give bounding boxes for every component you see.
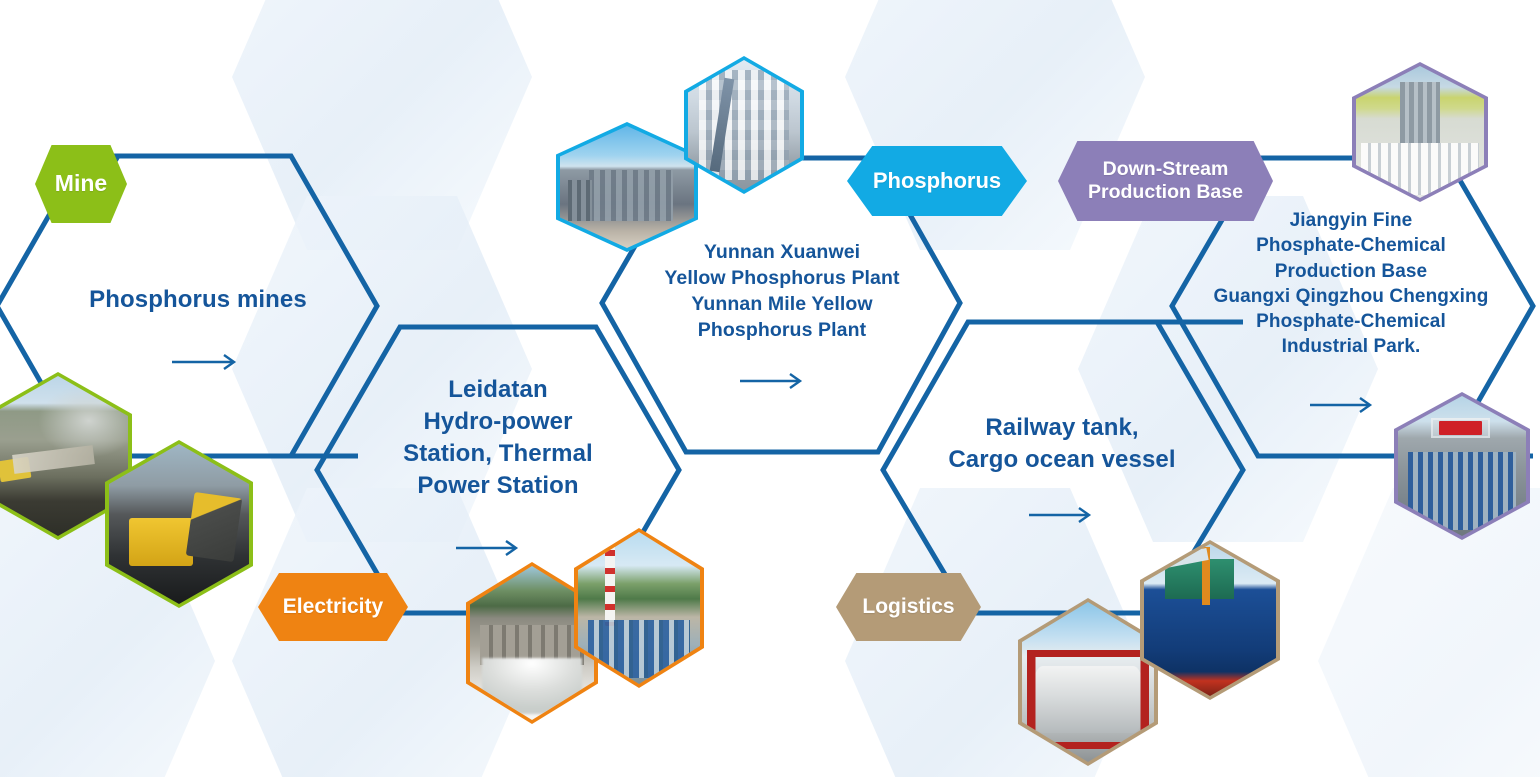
flow-arrow-downstream (1310, 398, 1370, 412)
value-chain-infographic: Phosphorus mines Leidatan Hydro-power St… (0, 0, 1540, 777)
stage-tag-electricity[interactable]: Electricity (258, 573, 408, 641)
stage-tag-electricity-label: Electricity (283, 595, 383, 620)
stage-tag-logistics[interactable]: Logistics (836, 573, 981, 641)
stage-tag-phosphorus[interactable]: Phosphorus (847, 146, 1027, 216)
stage-tag-mine-label: Mine (55, 170, 107, 197)
flow-arrow-mine (172, 355, 234, 369)
stage-tag-mine[interactable]: Mine (35, 145, 127, 223)
stage-tag-phosphorus-label: Phosphorus (873, 168, 1001, 194)
flow-arrow-electricity (456, 541, 516, 555)
stage-tag-downstream[interactable]: Down-Stream Production Base (1058, 141, 1273, 221)
stage-tag-downstream-label-line2: Production Base (1088, 181, 1243, 204)
flow-arrow-logistics (1029, 508, 1089, 522)
flow-arrow-phosphorus (740, 374, 800, 388)
stage-tag-logistics-label: Logistics (862, 595, 954, 620)
stage-tag-downstream-label-line1: Down-Stream (1088, 158, 1243, 181)
